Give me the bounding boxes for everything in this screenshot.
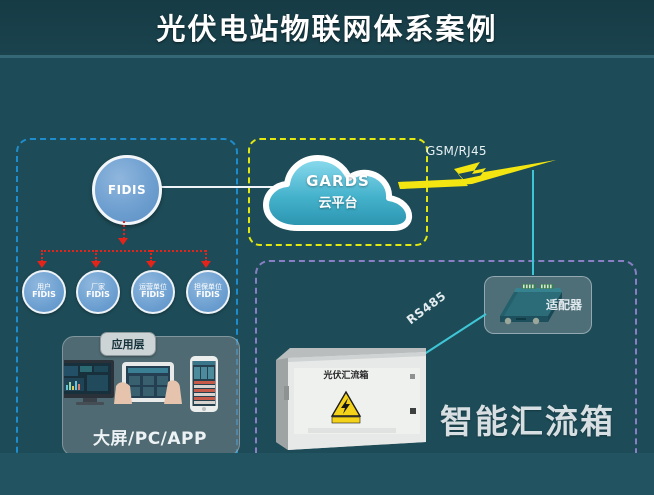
tree-branch-arrow-4 [201, 261, 211, 268]
footer-strip [0, 453, 654, 495]
page-title: 光伏电站物联网体系案例 [0, 6, 654, 48]
fidis-node-guarantor-en: FIDIS [196, 291, 220, 299]
smartphone-icon [190, 356, 218, 412]
combiner-device-text: 光伏汇流箱 [322, 369, 368, 381]
fidis-node-guarantor[interactable]: 担保单位 FIDIS [186, 270, 230, 314]
gards-cloud[interactable]: GARDS 云平台 [262, 150, 414, 234]
tree-bus-line [41, 250, 206, 252]
fidis-node-user-en: FIDIS [32, 291, 56, 299]
fidis-root-node[interactable]: FIDIS [92, 155, 162, 225]
tree-trunk-line [123, 221, 125, 239]
fidis-root-label: FIDIS [108, 183, 146, 197]
tree-trunk-arrow [118, 238, 128, 245]
fidis-node-operator-en: FIDIS [141, 291, 165, 299]
application-layer-chip[interactable]: 应用层 [100, 332, 156, 356]
combiner-box-image[interactable]: 光伏汇流箱 [276, 346, 426, 454]
application-devices-image [64, 356, 236, 426]
slide-root: 光伏电站物联网体系案例 FIDIS 用户 FIDIS 厂家 [0, 0, 654, 495]
application-caption: 大屏/PC/APP [62, 424, 238, 449]
cloud-adapter-link [532, 170, 534, 275]
adapter-label: 适配器 [546, 296, 582, 313]
fidis-node-operator[interactable]: 运营单位 FIDIS [131, 270, 175, 314]
title-bar: 光伏电站物联网体系案例 [0, 0, 654, 55]
tree-branch-arrow-3 [146, 261, 156, 268]
cloud-subtitle: 云平台 [262, 192, 414, 211]
fidis-node-manufacturer[interactable]: 厂家 FIDIS [76, 270, 120, 314]
smart-combiner-title: 智能汇流箱 [440, 395, 615, 443]
application-layer-chip-label: 应用层 [112, 336, 145, 352]
tree-branch-arrow-2 [91, 261, 101, 268]
fidis-node-manufacturer-en: FIDIS [86, 291, 110, 299]
cloud-name: GARDS [262, 172, 414, 190]
tablet-icon [114, 362, 182, 404]
tree-branch-arrow-1 [37, 261, 47, 268]
fidis-node-user[interactable]: 用户 FIDIS [22, 270, 66, 314]
lightning-bolt-icon [398, 158, 558, 192]
gsm-link-label: GSM/RJ45 [426, 144, 487, 158]
cloud-text-group: GARDS 云平台 [262, 172, 414, 211]
desktop-monitor-icon [64, 360, 114, 405]
diagram-canvas: FIDIS 用户 FIDIS 厂家 FIDIS 运营单位 FIDIS 担保单位 … [0, 58, 654, 453]
